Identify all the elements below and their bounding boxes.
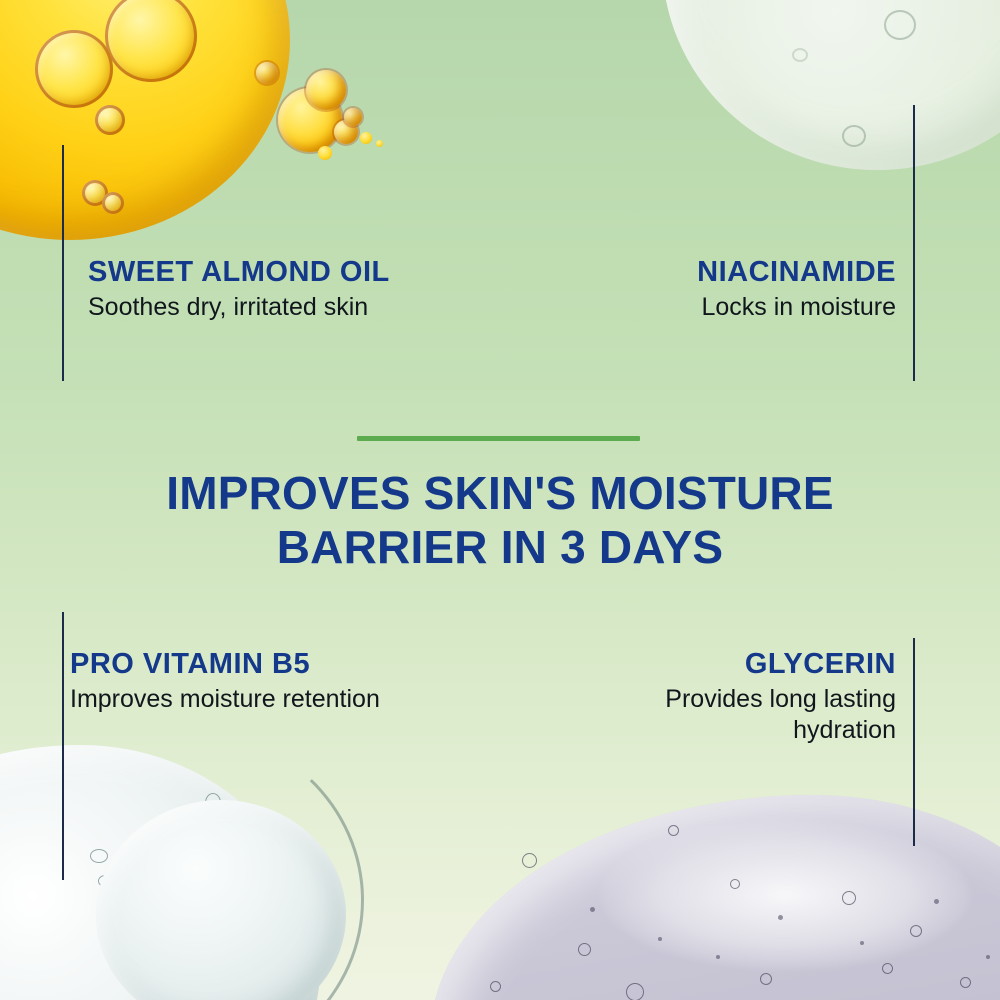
ingredient-name: PRO VITAMIN B5 bbox=[70, 648, 500, 680]
pointer-rule-top-right bbox=[913, 105, 915, 381]
gel-bubble-icon bbox=[842, 125, 866, 147]
ingredient-benefit: Provides long lasting hydration bbox=[596, 684, 896, 745]
ingredient-benefit: Soothes dry, irritated skin bbox=[88, 292, 508, 323]
gel-bubble-icon bbox=[130, 935, 141, 946]
oil-droplet-satellite bbox=[278, 88, 342, 152]
oil-droplet-satellite bbox=[344, 108, 362, 126]
clear-gel-blob-secondary bbox=[96, 800, 346, 1000]
gel-bubble-icon bbox=[98, 875, 112, 887]
ingredient-callout-glycerin: GLYCERIN Provides long lasting hydration bbox=[596, 648, 896, 745]
gel-bubble-icon bbox=[255, 827, 269, 841]
ingredient-callout-niacinamide: NIACINAMIDE Locks in moisture bbox=[560, 256, 896, 323]
ingredient-name: GLYCERIN bbox=[596, 648, 896, 680]
pointer-rule-bottom-right bbox=[913, 638, 915, 846]
ingredient-callout-sweet-almond-oil: SWEET ALMOND OIL Soothes dry, irritated … bbox=[88, 256, 508, 323]
ingredient-benefit: Improves moisture retention bbox=[70, 684, 500, 715]
oil-droplet-satellite bbox=[360, 132, 372, 144]
section-divider bbox=[357, 436, 640, 441]
gel-bubble-icon bbox=[792, 48, 808, 62]
oil-bubble-icon bbox=[35, 30, 113, 108]
ingredient-name: SWEET ALMOND OIL bbox=[88, 256, 508, 288]
oil-droplet-satellite bbox=[334, 120, 358, 144]
gel-sphere-image bbox=[662, 0, 1000, 170]
gel-edge-highlight bbox=[0, 727, 364, 1000]
oil-bubble-icon bbox=[105, 0, 197, 82]
oil-droplet-satellite bbox=[306, 70, 346, 110]
pointer-rule-bottom-left bbox=[62, 612, 64, 880]
ingredient-callout-pro-vitamin-b5: PRO VITAMIN B5 Improves moisture retenti… bbox=[70, 648, 500, 715]
ingredient-benefit: Locks in moisture bbox=[560, 292, 896, 323]
gel-bubble-icon bbox=[205, 793, 221, 813]
headline-line-1: IMPROVES SKIN'S MOISTURE bbox=[0, 466, 1000, 520]
gel-bubble-icon bbox=[180, 965, 196, 987]
pointer-rule-top-left bbox=[62, 145, 64, 381]
gel-bubble-icon bbox=[168, 841, 180, 853]
clear-gel-blob-image bbox=[0, 745, 320, 1000]
headline-line-2: BARRIER IN 3 DAYS bbox=[0, 520, 1000, 574]
oil-droplet-satellite bbox=[256, 62, 278, 84]
infographic-canvas: SWEET ALMOND OIL Soothes dry, irritated … bbox=[0, 0, 1000, 1000]
gel-bubble-icon bbox=[884, 10, 916, 40]
oil-droplet-image bbox=[0, 0, 290, 240]
oil-bubble-icon bbox=[82, 180, 108, 206]
oil-droplet-satellite bbox=[318, 146, 332, 160]
gel-bubble-icon bbox=[90, 849, 108, 863]
oil-droplet-satellite bbox=[376, 140, 383, 147]
ingredient-name: NIACINAMIDE bbox=[560, 256, 896, 288]
headline-claim: IMPROVES SKIN'S MOISTURE BARRIER IN 3 DA… bbox=[0, 466, 1000, 575]
oil-bubble-icon bbox=[102, 192, 124, 214]
oil-bubble-icon bbox=[95, 105, 125, 135]
